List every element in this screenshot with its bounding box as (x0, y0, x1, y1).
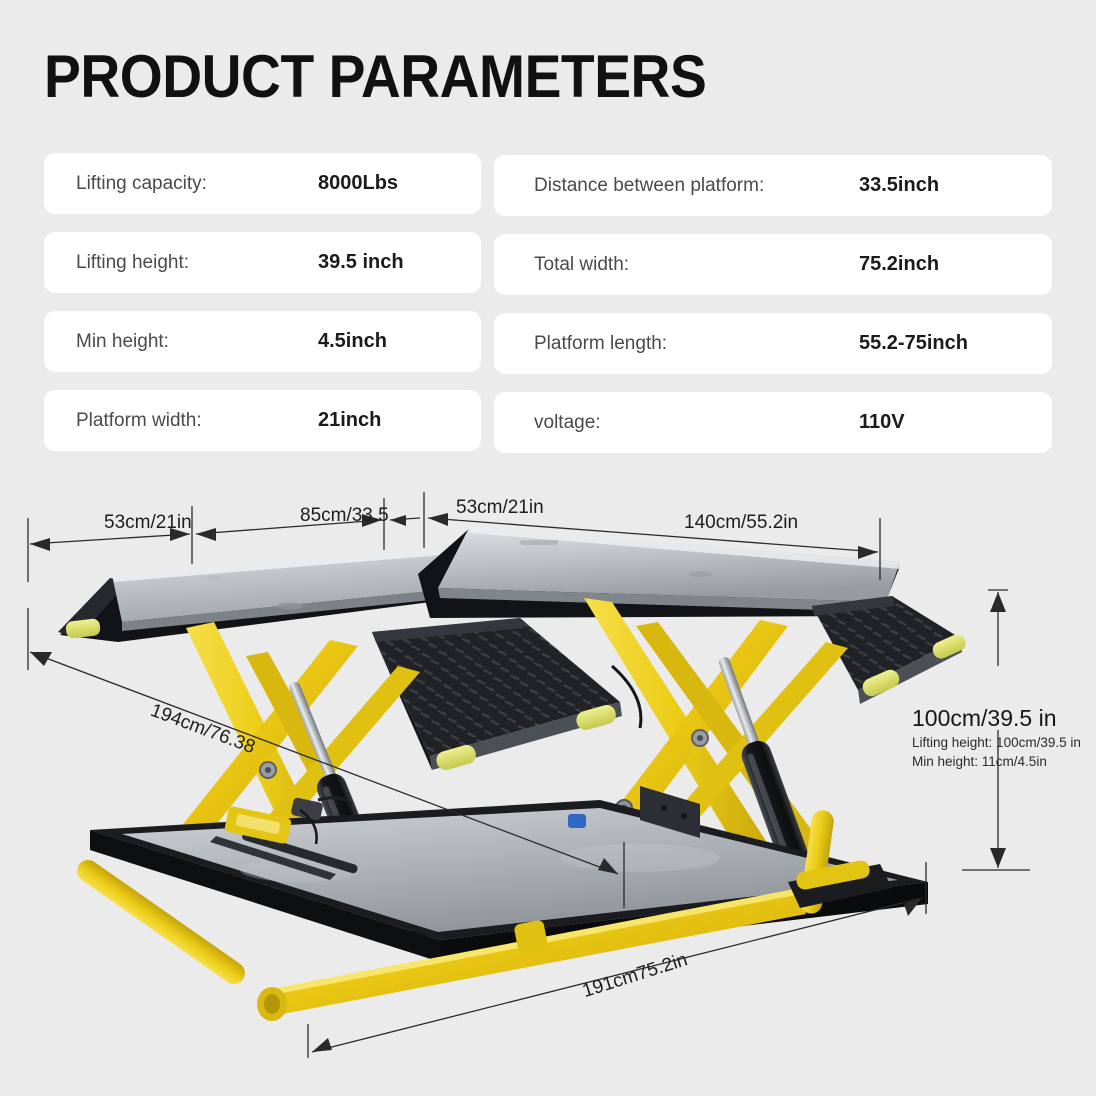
height-callout-lifting-height: Lifting height: 100cm/39.5 in (912, 733, 1092, 752)
height-callout-main: 100cm/39.5 in (912, 703, 1092, 733)
dimension-label-right-platform: 53cm/21in (456, 497, 544, 519)
spec-value: 55.2-75inch (859, 332, 968, 355)
spec-value: 75.2inch (859, 253, 939, 276)
spec-row-voltage: voltage: 110V (494, 392, 1052, 453)
page-title: PRODUCT PARAMETERS (44, 46, 706, 108)
dimension-label-between-platforms: 85cm/33.5 (300, 505, 389, 527)
spec-value: 110V (859, 411, 905, 434)
height-callout-min-height: Min height: 11cm/4.5in (912, 752, 1092, 771)
spec-value: 33.5inch (859, 174, 939, 197)
spec-value: 21inch (318, 409, 381, 432)
spec-label: Platform length: (534, 333, 859, 355)
spec-value: 8000Lbs (318, 172, 398, 195)
dimension-label-left-platform: 53cm/21in (104, 512, 192, 534)
spec-label: voltage: (534, 412, 859, 434)
spec-label: Lifting capacity: (76, 173, 318, 195)
spec-label: Total width: (534, 254, 859, 276)
spec-row-platform-length: Platform length: 55.2-75inch (494, 313, 1052, 374)
scissor-lift-illustration (0, 470, 1096, 1096)
spec-column-right: Distance between platform: 33.5inch Tota… (494, 155, 1052, 471)
spec-row-lifting-height: Lifting height: 39.5 inch (44, 232, 481, 293)
spec-label: Lifting height: (76, 252, 318, 274)
spec-label: Distance between platform: (534, 175, 859, 197)
spec-label: Min height: (76, 331, 318, 353)
spec-row-total-width: Total width: 75.2inch (494, 234, 1052, 295)
dimension-label-top-length: 140cm/55.2in (684, 512, 798, 534)
spec-row-distance-between-platform: Distance between platform: 33.5inch (494, 155, 1052, 216)
spec-row-min-height: Min height: 4.5inch (44, 311, 481, 372)
spec-row-platform-width: Platform width: 21inch (44, 390, 481, 451)
spec-value: 4.5inch (318, 330, 387, 353)
product-diagram (0, 470, 1096, 1096)
spec-label: Platform width: (76, 410, 318, 432)
center-ramp (372, 618, 622, 772)
spec-row-lifting-capacity: Lifting capacity: 8000Lbs (44, 153, 481, 214)
height-callout: 100cm/39.5 in Lifting height: 100cm/39.5… (912, 703, 1092, 771)
spec-value: 39.5 inch (318, 251, 404, 274)
spec-column-left: Lifting capacity: 8000Lbs Lifting height… (44, 153, 481, 469)
